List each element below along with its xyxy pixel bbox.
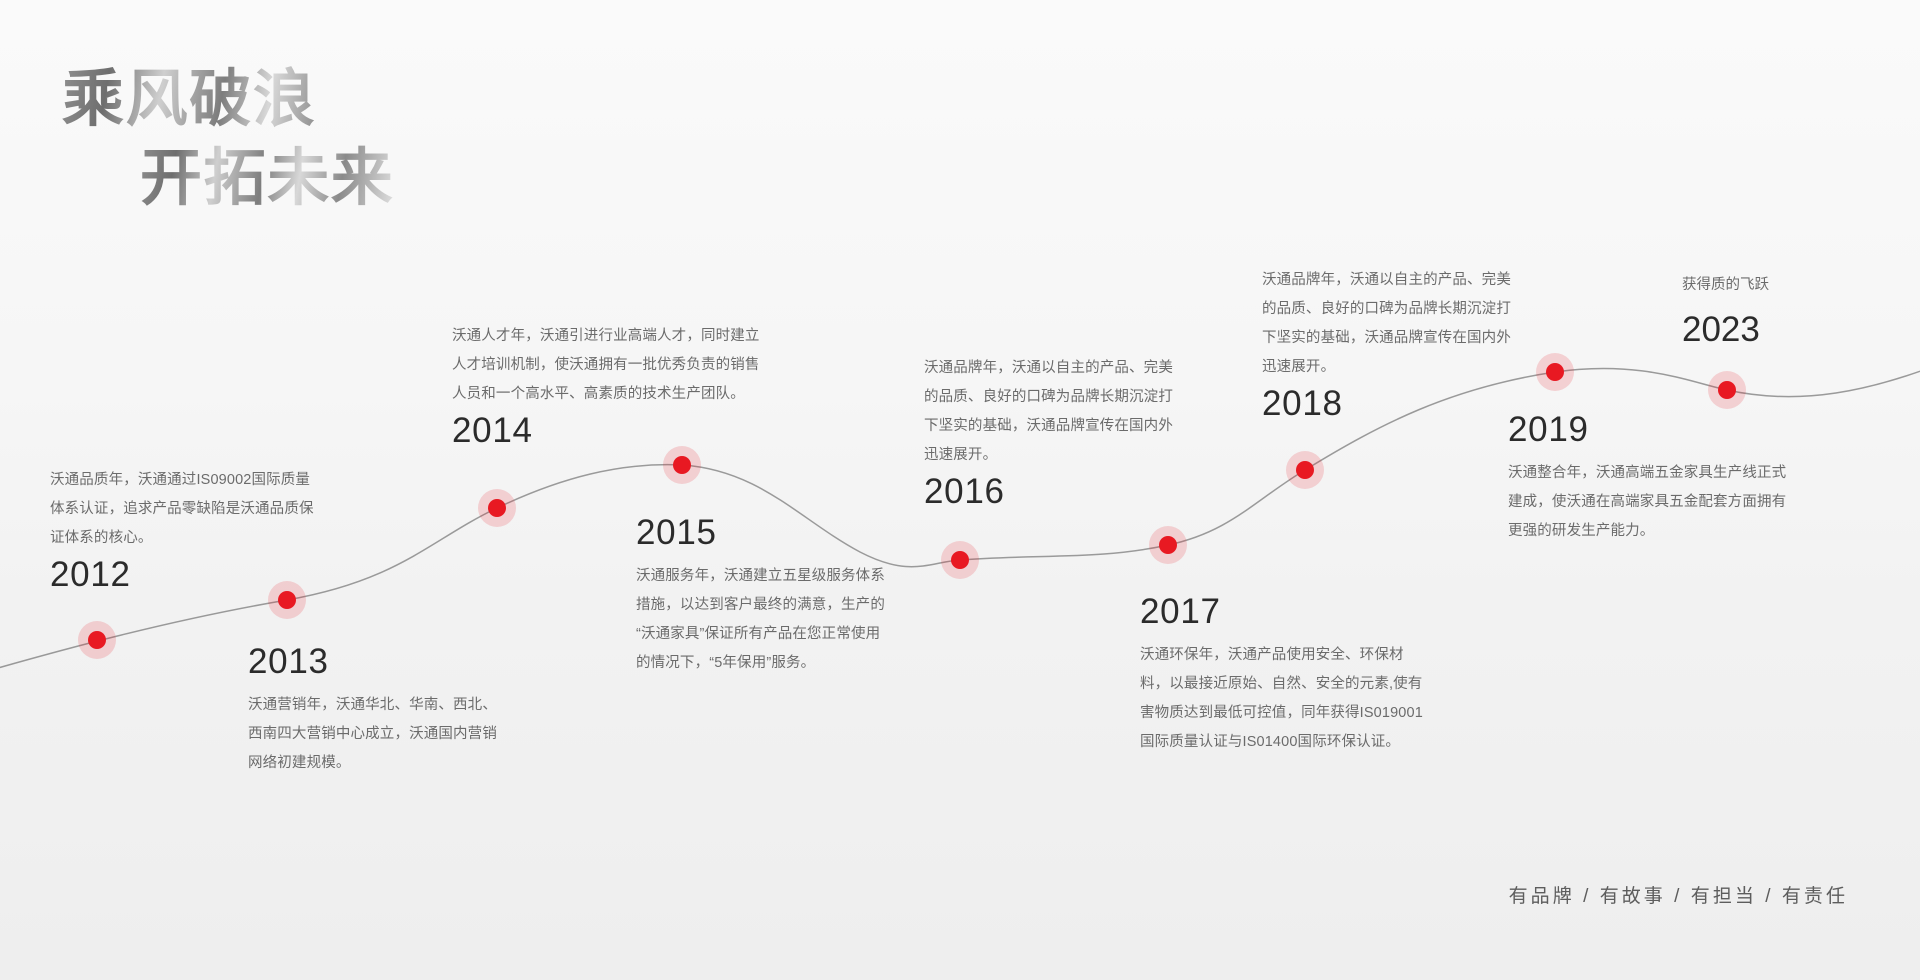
milestone-description: 沃通人才年，沃通引进行业高端人才，同时建立人才培训机制，使沃通拥有一批优秀负责的… <box>452 322 760 409</box>
milestone-dot-core <box>1546 363 1564 381</box>
milestone-dot-core <box>951 551 969 569</box>
milestone-dot-core <box>1718 381 1736 399</box>
milestone-year: 2013 <box>248 644 506 681</box>
title-line-1: 乘风破浪 <box>62 66 394 135</box>
milestone-year: 2016 <box>924 474 1186 511</box>
page-title: 乘风破浪 开拓未来 <box>62 66 394 215</box>
milestone-dot-core <box>488 499 506 517</box>
milestone-entry-2018[interactable]: 沃通品牌年，沃通以自主的产品、完美的品质、良好的口碑为品牌长期沉淀打下坚实的基础… <box>1262 266 1520 423</box>
milestone-entry-2016[interactable]: 沃通品牌年，沃通以自主的产品、完美的品质、良好的口碑为品牌长期沉淀打下坚实的基础… <box>924 354 1186 511</box>
timeline-poster: 乘风破浪 开拓未来 沃通品质年，沃通通过IS09002国际质量体系认证，追求产品… <box>0 0 1920 980</box>
milestone-dot-core <box>673 456 691 474</box>
milestone-dot-core <box>88 631 106 649</box>
milestone-description: 沃通服务年，沃通建立五星级服务体系措施，以达到客户最终的满意，生产的“沃通家具”… <box>636 562 888 678</box>
milestone-description: 沃通品牌年，沃通以自主的产品、完美的品质、良好的口碑为品牌长期沉淀打下坚实的基础… <box>1262 266 1520 382</box>
milestone-year: 2019 <box>1508 412 1796 449</box>
milestone-entry-2013[interactable]: 2013沃通营销年，沃通华北、华南、西北、西南四大营销中心成立，沃通国内营销网络… <box>248 644 506 778</box>
milestone-entry-2012[interactable]: 沃通品质年，沃通通过IS09002国际质量体系认证，追求产品零缺陷是沃通品质保证… <box>50 466 318 594</box>
milestone-entry-2015[interactable]: 2015沃通服务年，沃通建立五星级服务体系措施，以达到客户最终的满意，生产的“沃… <box>636 515 888 678</box>
milestone-year: 2014 <box>452 413 760 450</box>
milestone-dot-core <box>1296 461 1314 479</box>
milestone-year: 2017 <box>1140 594 1430 631</box>
footer-slogan: 有品牌 / 有故事 / 有担当 / 有责任 <box>1509 881 1848 908</box>
milestone-description: 沃通环保年，沃通产品使用安全、环保材料，以最接近原始、自然、安全的元素,使有害物… <box>1140 641 1430 757</box>
final-caption: 获得质的飞跃 <box>1682 272 1769 300</box>
milestone-description: 沃通营销年，沃通华北、华南、西北、西南四大营销中心成立，沃通国内营销网络初建规模… <box>248 691 506 778</box>
milestone-year: 2012 <box>50 557 318 594</box>
milestone-entry-2019[interactable]: 2019沃通整合年，沃通高端五金家具生产线正式建成，使沃通在高端家具五金配套方面… <box>1508 412 1796 546</box>
milestone-description: 沃通整合年，沃通高端五金家具生产线正式建成，使沃通在高端家具五金配套方面拥有更强… <box>1508 459 1796 546</box>
milestone-description: 沃通品牌年，沃通以自主的产品、完美的品质、良好的口碑为品牌长期沉淀打下坚实的基础… <box>924 354 1186 470</box>
milestone-dot-core <box>1159 536 1177 554</box>
milestone-year: 2018 <box>1262 386 1520 423</box>
final-year: 2023 <box>1682 310 1769 350</box>
milestone-entry-2014[interactable]: 沃通人才年，沃通引进行业高端人才，同时建立人才培训机制，使沃通拥有一批优秀负责的… <box>452 322 760 450</box>
milestone-entry-2023[interactable]: 获得质的飞跃 2023 <box>1682 272 1769 350</box>
title-line-2: 开拓未来 <box>140 145 394 214</box>
milestone-description: 沃通品质年，沃通通过IS09002国际质量体系认证，追求产品零缺陷是沃通品质保证… <box>50 466 318 553</box>
milestone-year: 2015 <box>636 515 888 552</box>
milestone-entry-2017[interactable]: 2017沃通环保年，沃通产品使用安全、环保材料，以最接近原始、自然、安全的元素,… <box>1140 594 1430 757</box>
